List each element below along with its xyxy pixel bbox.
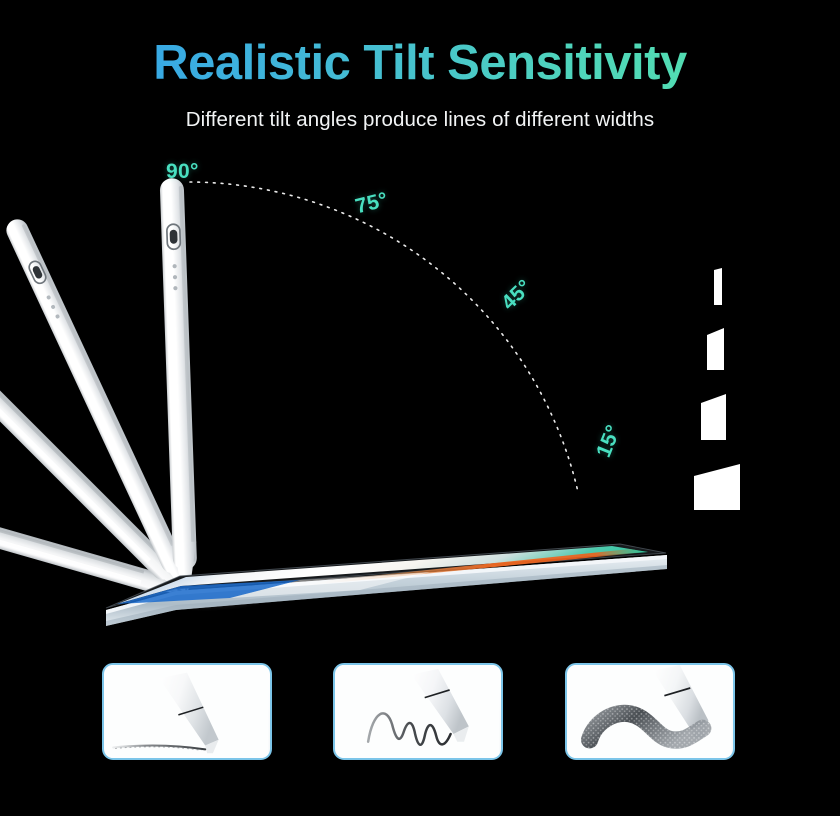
swatch-45: [701, 394, 726, 440]
thumbnail-medium-stroke[interactable]: [333, 663, 503, 760]
page-title: Realistic Tilt Sensitivity: [0, 38, 840, 89]
tilt-arc: [190, 182, 578, 492]
thumb-3-art: [567, 665, 733, 758]
swatch-90: [714, 268, 722, 305]
swatch-15: [694, 464, 740, 510]
angle-label-90: 90°: [166, 160, 199, 184]
thumbnail-thick-stroke[interactable]: [565, 663, 735, 760]
stroke-width-swatches: [690, 260, 800, 520]
promo-graphic: Realistic Tilt Sensitivity Different til…: [0, 0, 840, 816]
thumb-1-art: [104, 665, 270, 758]
thumb-2-art: [335, 665, 501, 758]
swatch-75: [707, 328, 724, 370]
thumbnail-thin-stroke[interactable]: [102, 663, 272, 760]
thumbnail-row: [0, 663, 840, 773]
page-subtitle: Different tilt angles produce lines of d…: [0, 108, 840, 132]
